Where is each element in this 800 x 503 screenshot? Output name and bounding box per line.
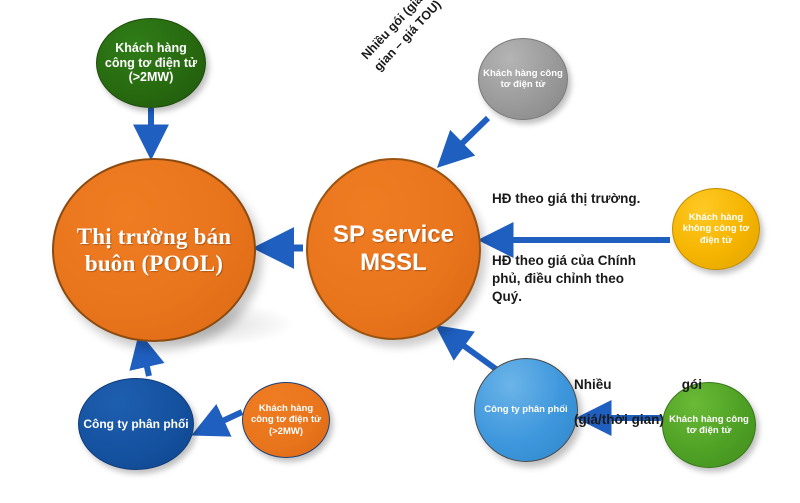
node-label-customer-gray: Khách hàng công tơ điện tử bbox=[479, 68, 567, 90]
node-label-pool: Thị trường bán buôn (POOL) bbox=[54, 223, 254, 277]
label-packages-row1: Nhiều gói bbox=[574, 376, 702, 394]
arrow-gray-customer-to-sp bbox=[443, 118, 488, 162]
label-market-price-contract: HĐ theo giá thị trường. bbox=[492, 190, 640, 208]
arrow-orange-customer-to-distribution-left bbox=[199, 412, 242, 432]
arrow-distribution-right-to-sp bbox=[442, 330, 500, 372]
node-distribution-company-left[interactable]: Công ty phân phối bbox=[78, 378, 194, 470]
node-label-customer-yellow: Khách hàng không công tơ điện tử bbox=[673, 212, 759, 246]
label-government-price-contract: HĐ theo giá của Chính phủ, điều chỉnh th… bbox=[492, 252, 664, 305]
node-customer-meter-above-2mw-orange[interactable]: Khách hàng công tơ điện tử (>2MW) bbox=[242, 382, 330, 458]
node-wholesale-market-pool[interactable]: Thị trường bán buôn (POOL) bbox=[52, 158, 256, 342]
node-label-distribution-right: Công ty phân phối bbox=[475, 404, 577, 415]
node-label-customer-orange: Khách hàng công tơ điện tử (>2MW) bbox=[243, 403, 329, 437]
label-packages-word-package: gói bbox=[682, 376, 702, 394]
node-customer-with-meter-gray[interactable]: Khách hàng công tơ điện tử bbox=[478, 38, 568, 120]
node-sp-service-mssl[interactable]: SP service MSSL bbox=[306, 158, 481, 340]
label-packages-price-time: Nhiều gói (giá/thời gian) bbox=[574, 358, 734, 446]
node-customer-meter-above-2mw-top[interactable]: Khách hàng công tơ điện tử (>2MW) bbox=[96, 18, 206, 108]
node-label-distribution-left: Công ty phân phối bbox=[79, 417, 193, 431]
node-label-customer-meter-top: Khách hàng công tơ điện tử (>2MW) bbox=[97, 41, 205, 85]
label-packages-row2: (giá/thời gian) bbox=[574, 411, 734, 429]
node-customer-without-meter-yellow[interactable]: Khách hàng không công tơ điện tử bbox=[672, 188, 760, 270]
label-packages-word-many: Nhiều bbox=[574, 376, 612, 394]
arrow-distribution-left-to-pool bbox=[141, 340, 149, 376]
node-label-sp-service: SP service MSSL bbox=[308, 221, 479, 278]
node-distribution-company-right[interactable]: Công ty phân phối bbox=[474, 358, 578, 462]
diagram-canvas: Thị trường bán buôn (POOL) SP service MS… bbox=[0, 0, 800, 503]
